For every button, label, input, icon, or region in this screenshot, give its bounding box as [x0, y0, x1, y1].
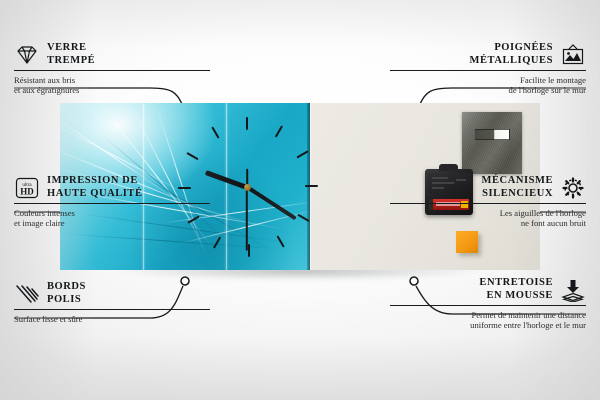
clock-tick-12 [246, 117, 248, 130]
clock-tick-3 [305, 185, 318, 187]
clock-center-cap [244, 184, 251, 191]
callout-desc-line1: Couleurs intenses [14, 208, 210, 218]
diamond-icon [14, 43, 40, 67]
gear-icon [560, 176, 586, 200]
callout-bords-polis: BORDS POLIS Surface lisse et sûre [14, 281, 210, 324]
clock-tick-6 [248, 244, 250, 257]
callout-rule [390, 70, 586, 71]
callout-rule [390, 203, 586, 204]
callout-desc-line1: Permet de maintenir une distance [390, 310, 586, 320]
clock-tick-1 [275, 125, 283, 137]
clock-tick-2 [296, 150, 308, 158]
polished-edges-icon [14, 282, 40, 306]
callout-impression-haute-qualite: ultra HD IMPRESSION DE HAUTE QUALITÉ Cou… [14, 175, 210, 229]
callout-title-line2: TREMPÉ [47, 55, 95, 68]
callout-verre-trempe: VERRE TREMPÉ Résistant aux bris et aux é… [14, 42, 210, 96]
callout-title-line2: SILENCIEUX [482, 188, 553, 201]
callout-rule [14, 70, 210, 71]
foam-spacer-arrow-icon [560, 278, 586, 302]
callout-mecanisme-silencieux: MÉCANISME SILENCIEUX Les aiguilles de l'… [390, 175, 586, 229]
callout-title-line2: MÉTALLIQUES [470, 55, 553, 68]
ultra-hd-badge-icon: ultra HD [14, 176, 40, 200]
clock-tick-7 [213, 236, 221, 248]
clock-tick-5 [277, 235, 285, 247]
callout-desc-line2: de l'horloge sur le mur [390, 85, 586, 95]
callout-entretoise-en-mousse: ENTRETOISE EN MOUSSE Permet de maintenir… [390, 277, 586, 331]
callout-title-line1: BORDS [47, 281, 86, 294]
callout-desc-line2: ne font aucun bruit [390, 218, 586, 228]
clock-tick-11 [211, 126, 219, 138]
ultra-hd-main-text: HD [20, 186, 34, 196]
callout-title-line1: MÉCANISME [482, 175, 553, 188]
callout-desc-line2: et aux égratignures [14, 85, 210, 95]
callout-desc-line2: et image claire [14, 218, 210, 228]
callout-rule [14, 203, 210, 204]
picture-hanger-icon [560, 43, 586, 67]
clock-tick-10 [186, 152, 198, 160]
callout-desc-line1: Résistant aux bris [14, 75, 210, 85]
foam-spacer-part [456, 231, 478, 253]
infographic-canvas: VERRE TREMPÉ Résistant aux bris et aux é… [0, 0, 600, 400]
callout-title-line1: ENTRETOISE [479, 277, 553, 290]
callout-title-line2: EN MOUSSE [479, 290, 553, 303]
metal-handle-part [462, 112, 522, 174]
callout-desc-line1: Facilite le montage [390, 75, 586, 85]
metal-handle-slot [474, 129, 510, 140]
clock-minute-hand [246, 185, 297, 220]
callout-title-line1: IMPRESSION DE [47, 175, 143, 188]
callout-title-line1: POIGNÉES [470, 42, 553, 55]
clock-second-hand [246, 187, 248, 251]
callout-rule [390, 305, 586, 306]
callout-title-line2: POLIS [47, 294, 86, 307]
mechanism-hanger-tab [439, 164, 458, 171]
callout-desc-line1: Surface lisse et sûre [14, 314, 210, 324]
callout-poignees-metalliques: POIGNÉES MÉTALLIQUES Facilite le montage… [390, 42, 586, 96]
callout-title-line2: HAUTE QUALITÉ [47, 188, 143, 201]
callout-title-line1: VERRE [47, 42, 95, 55]
clock-tick-4 [297, 214, 309, 222]
callout-desc-line1: Les aiguilles de l'horloge [390, 208, 586, 218]
callout-desc-line2: uniforme entre l'horloge et le mur [390, 320, 586, 330]
clock-hour-hand [205, 170, 248, 190]
callout-rule [14, 309, 210, 310]
